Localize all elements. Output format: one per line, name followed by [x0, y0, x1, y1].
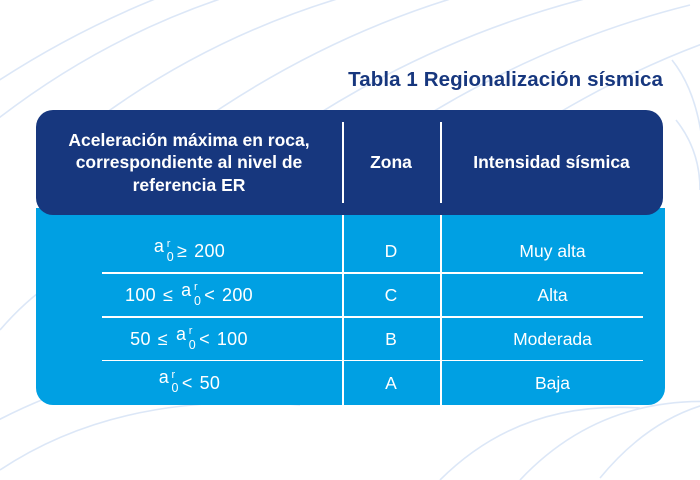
table-row: 100 ≤ a r 0 <	[36, 274, 665, 318]
variable-indices: r 0	[194, 289, 201, 313]
variable-base: a	[176, 324, 186, 345]
cell-intensity: Baja	[440, 361, 665, 405]
variable-indices: r 0	[189, 333, 196, 357]
variable-superscript: r	[194, 282, 198, 293]
lower-operator: ≤	[158, 329, 168, 350]
cell-intensity: Alta	[440, 274, 665, 318]
table-row: a r 0 < 50 A Baja	[36, 361, 665, 405]
page-root: Tabla 1 Regionalización sísmica a r 0	[0, 0, 700, 480]
seismic-regionalization-table: a r 0 ≥ 200 D Muy alta	[36, 110, 665, 405]
cell-acceleration: a r 0 < 50	[36, 361, 342, 405]
cell-acceleration: 50 ≤ a r 0 <	[36, 318, 342, 362]
table-rows: a r 0 ≥ 200 D Muy alta	[36, 230, 665, 405]
table-body: a r 0 ≥ 200 D Muy alta	[36, 208, 665, 405]
header-column-divider-2	[440, 122, 442, 203]
lower-operator: ≤	[163, 285, 173, 306]
table-row: a r 0 ≥ 200 D Muy alta	[36, 230, 665, 274]
upper-value: 50	[200, 373, 221, 394]
variable-a0r: a r 0	[176, 324, 196, 356]
upper-value: 200	[222, 285, 253, 306]
formula-expression: a r 0 < 50	[158, 367, 221, 399]
variable-base: a	[159, 367, 169, 388]
variable-base: a	[154, 236, 164, 257]
cell-zone: A	[342, 361, 440, 405]
lower-value: 100	[125, 285, 156, 306]
formula-expression: 100 ≤ a r 0 <	[125, 280, 253, 312]
formula-expression: 50 ≤ a r 0 <	[130, 324, 248, 356]
cell-intensity: Moderada	[440, 318, 665, 362]
variable-indices: r 0	[167, 245, 174, 269]
variable-a0r: a r 0	[159, 367, 179, 399]
variable-a0r: a r 0	[181, 280, 201, 312]
body-column-divider-1	[342, 208, 344, 405]
cell-acceleration: 100 ≤ a r 0 <	[36, 274, 342, 318]
header-intensity: Intensidad sísmica	[440, 110, 663, 215]
table-header: Aceleración máxima en roca, correspondie…	[36, 110, 663, 215]
variable-subscript: 0	[167, 251, 174, 264]
cell-intensity: Muy alta	[440, 230, 665, 274]
variable-superscript: r	[167, 239, 171, 250]
variable-subscript: 0	[189, 339, 196, 352]
cell-zone: D	[342, 230, 440, 274]
page-title: Tabla 1 Regionalización sísmica	[0, 68, 663, 92]
header-acceleration: Aceleración máxima en roca, correspondie…	[36, 110, 342, 215]
cell-zone: C	[342, 274, 440, 318]
cell-acceleration: a r 0 ≥ 200	[36, 230, 342, 274]
header-column-divider-1	[342, 122, 344, 203]
upper-value: 100	[217, 329, 248, 350]
upper-operator: ≥	[177, 241, 187, 262]
variable-superscript: r	[172, 370, 176, 381]
upper-operator: <	[182, 373, 193, 394]
table-row: 50 ≤ a r 0 <	[36, 318, 665, 362]
variable-a0r: a r 0	[154, 236, 174, 268]
formula-expression: a r 0 ≥ 200	[153, 236, 225, 268]
body-column-divider-2	[440, 208, 442, 405]
upper-operator: <	[204, 285, 215, 306]
cell-zone: B	[342, 318, 440, 362]
variable-superscript: r	[189, 326, 193, 337]
upper-operator: <	[199, 329, 210, 350]
lower-value: 50	[130, 329, 151, 350]
variable-indices: r 0	[172, 376, 179, 400]
variable-base: a	[181, 280, 191, 301]
variable-subscript: 0	[172, 382, 179, 395]
header-zone: Zona	[342, 110, 440, 215]
upper-value: 200	[194, 241, 225, 262]
variable-subscript: 0	[194, 295, 201, 308]
